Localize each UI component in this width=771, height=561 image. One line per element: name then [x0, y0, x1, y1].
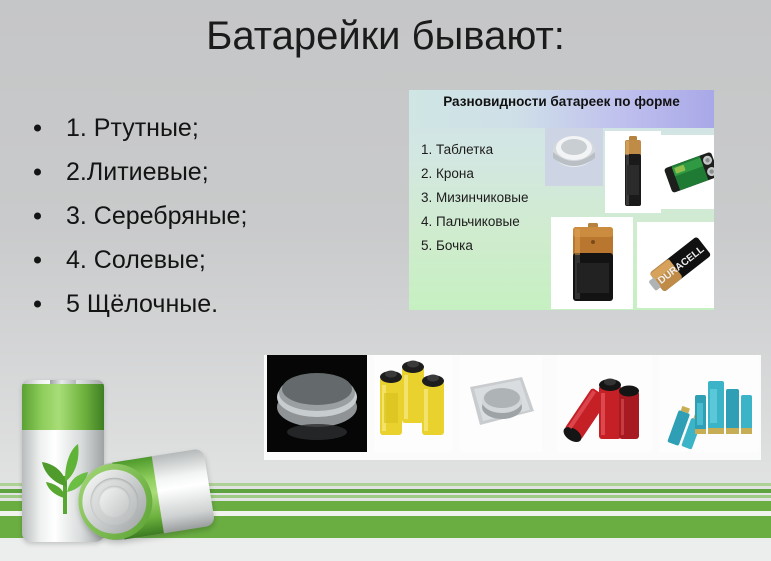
list-item: 1. Ртутные;	[26, 106, 356, 150]
list-item: 2.Литиевые;	[26, 150, 356, 194]
coin-cell-photo	[545, 128, 603, 186]
battery-shapes-list: 1. Таблетка 2. Крона 3. Мизинчиковые 4. …	[421, 138, 529, 258]
d-cell-battery-icon	[551, 217, 633, 309]
teal-battery-assortment-photo	[659, 355, 759, 452]
coin-cell-icon	[267, 355, 367, 452]
teal-batteries-icon	[659, 355, 759, 452]
list-item: 2. Крона	[421, 162, 529, 186]
page-title: Батарейки бывают:	[0, 12, 771, 60]
list-item-label: 1. Ртутные;	[66, 114, 199, 142]
bullet-dot-icon	[34, 169, 41, 176]
bullet-dot-icon	[34, 125, 41, 132]
list-item: 5. Бочка	[421, 234, 529, 258]
yellow-batteries-icon	[374, 355, 452, 452]
coin-cell-on-black-photo	[267, 355, 367, 452]
crown-9v-battery-photo	[661, 135, 714, 209]
bullet-dot-icon	[34, 213, 41, 220]
list-item: 4. Солевые;	[26, 238, 356, 282]
red-batteries-icon	[557, 355, 652, 452]
list-item: 4. Пальчиковые	[421, 210, 529, 234]
battery-shapes-panel-header: Разновидности батареек по форме	[409, 90, 714, 128]
d-cell-barrel-battery-photo	[551, 217, 633, 309]
list-item: 3. Мизинчиковые	[421, 186, 529, 210]
list-item: 5 Щёлочные.	[26, 282, 356, 326]
aa-duracell-battery-photo: DURACELL	[637, 222, 714, 308]
bullet-dot-icon	[34, 301, 41, 308]
bullet-dot-icon	[34, 257, 41, 264]
crown-9v-battery-icon	[661, 135, 714, 209]
aaa-battery-icon	[605, 131, 661, 213]
blister-pack-coin-cell-photo	[460, 355, 542, 452]
list-item-label: 3. Серебряные;	[66, 202, 247, 230]
list-item-label: 2.Литиевые;	[66, 158, 209, 186]
aa-battery-icon: DURACELL	[637, 222, 714, 308]
blister-pack-icon	[460, 355, 542, 452]
yellow-cylindrical-batteries-photo	[374, 355, 452, 452]
list-item-label: 5 Щёлочные.	[66, 290, 218, 318]
battery-photo-strip	[264, 355, 761, 460]
slide-canvas: Батарейки бывают: 1. Ртутные; 2.Литиевые…	[0, 0, 771, 561]
eco-battery-illustration	[0, 378, 212, 561]
red-aa-batteries-photo	[557, 355, 652, 452]
list-item: 3. Серебряные;	[26, 194, 356, 238]
aaa-battery-photo	[605, 131, 661, 213]
list-item: 1. Таблетка	[421, 138, 529, 162]
list-item-label: 4. Солевые;	[66, 246, 206, 274]
battery-green-band	[22, 384, 104, 430]
battery-shapes-panel: Разновидности батареек по форме 1. Табле…	[409, 90, 714, 310]
coin-cell-icon	[545, 128, 603, 186]
battery-types-list: 1. Ртутные; 2.Литиевые; 3. Серебряные; 4…	[26, 106, 356, 326]
